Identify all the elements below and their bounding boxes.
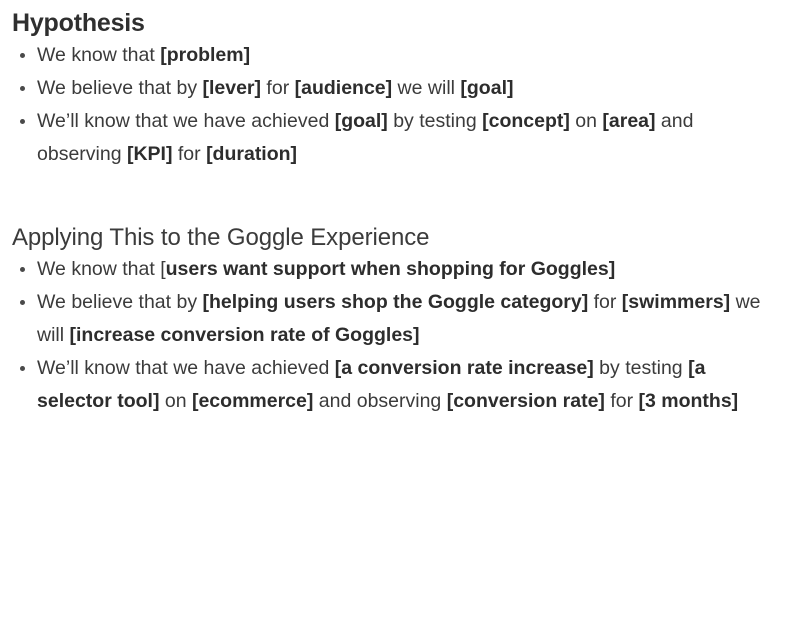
emphasis-token: [helping users shop the Goggle category]: [202, 291, 588, 313]
emphasis-token: [lever]: [202, 77, 261, 99]
document-page: Hypothesis We know that [problem] We bel…: [0, 0, 810, 418]
list-item: We believe that by [helping users shop t…: [0, 286, 775, 352]
list-item: We know that [problem]: [0, 39, 790, 72]
emphasis-token: [area]: [602, 110, 655, 132]
list-item: We believe that by [lever] for [audience…: [0, 72, 790, 105]
emphasis-token: [goal]: [335, 110, 388, 132]
emphasis-token: [KPI]: [127, 143, 173, 165]
list-item: We’ll know that we have achieved [goal] …: [0, 105, 790, 171]
emphasis-token: users want support when shopping for Gog…: [166, 258, 616, 280]
emphasis-token: [ecommerce]: [192, 390, 313, 412]
applying-heading: Applying This to the Goggle Experience: [0, 223, 810, 253]
emphasis-token: [increase conversion rate of Goggles]: [70, 324, 420, 346]
emphasis-token: [goal]: [460, 77, 513, 99]
emphasis-token: [duration]: [206, 143, 297, 165]
list-item: We know that [users want support when sh…: [0, 253, 775, 286]
emphasis-token: [audience]: [295, 77, 393, 99]
section-spacer: [0, 171, 810, 223]
emphasis-token: [conversion rate]: [447, 390, 605, 412]
emphasis-token: [swimmers]: [622, 291, 730, 313]
list-item: We’ll know that we have achieved [a conv…: [0, 352, 775, 418]
emphasis-token: [concept]: [482, 110, 570, 132]
hypothesis-bullet-list: We know that [problem] We believe that b…: [0, 39, 790, 171]
applying-bullet-list: We know that [users want support when sh…: [0, 253, 775, 418]
emphasis-token: [3 months]: [639, 390, 739, 412]
emphasis-token: [problem]: [160, 44, 250, 66]
emphasis-token: [a conversion rate increase]: [335, 357, 594, 379]
hypothesis-heading: Hypothesis: [0, 0, 810, 39]
